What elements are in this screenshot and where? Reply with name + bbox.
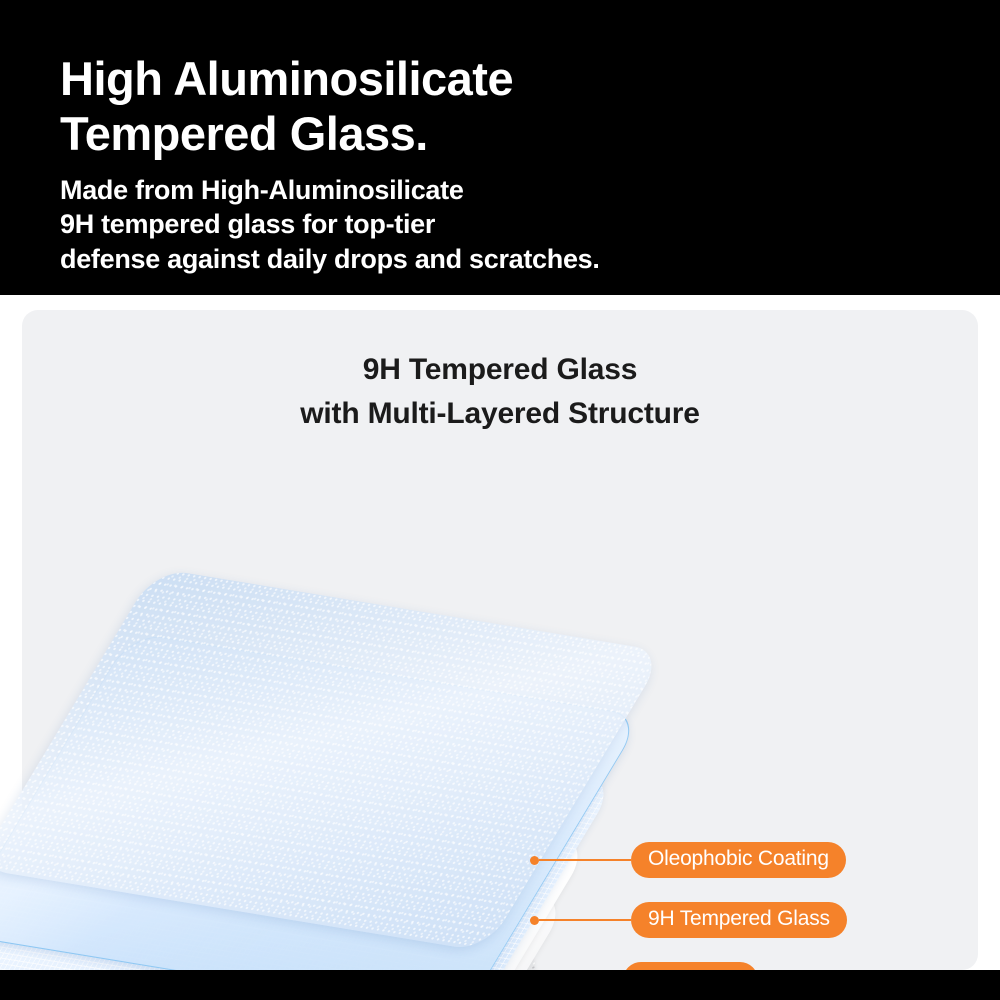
callout-dot-icon (530, 856, 539, 865)
callout-9h-tempered-glass: 9H Tempered Glass (530, 902, 847, 938)
callout-oleophobic-coating: Oleophobic Coating (530, 842, 846, 878)
callout-dot-icon (530, 916, 539, 925)
page-root: High Aluminosilicate Tempered Glass. Mad… (0, 0, 1000, 1000)
callout-oca-layer: OCA Layer (522, 962, 758, 970)
diagram-panel-inner: 9H Tempered Glass with Multi-Layered Str… (22, 310, 978, 970)
callout-leader-line (539, 919, 631, 921)
header-subtitle: Made from High-Aluminosilicate 9H temper… (60, 173, 1000, 276)
diagram-panel: 9H Tempered Glass with Multi-Layered Str… (0, 295, 1000, 970)
callout-label: OCA Layer (623, 962, 758, 970)
callout-label: Oleophobic Coating (631, 842, 846, 877)
callout-leader-line (539, 859, 631, 861)
page-title: High Aluminosilicate Tempered Glass. (60, 52, 1000, 161)
callout-label: 9H Tempered Glass (631, 902, 847, 937)
diagram-title: 9H Tempered Glass with Multi-Layered Str… (22, 348, 978, 435)
header-banner: High Aluminosilicate Tempered Glass. Mad… (0, 30, 1000, 288)
